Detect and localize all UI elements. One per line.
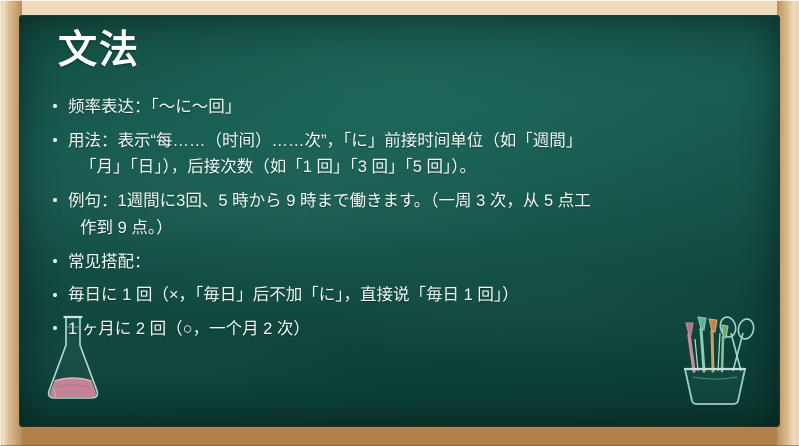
grammar-bullet-list: 频率表达：「～に～回」 用法：表示“每……（时间）……次”，「に」前接时间单位（… [52,94,739,350]
bullet-line: 毎日に 1 回（×，「毎日」后不加「に」，直接说「毎日 1 回」） [68,282,739,309]
chalkboard-surface: 文法 频率表达：「～に～回」 用法：表示“每……（时间）……次”，「に」前接时间… [20,16,779,426]
bullet-dot-icon [53,259,57,263]
bullet-dot-icon [53,104,57,108]
bullet-line-continued: 作到 9 点。） [68,215,739,242]
bullet-dot-icon [53,293,57,297]
page-title: 文法 [58,30,140,73]
list-item-collocation-right: 1 ヶ月に 2 回（○，一个月 2 次） [52,316,739,343]
wood-frame-left-rail [0,0,22,446]
list-item-common-collocations: 常见搭配： [52,249,739,276]
list-item-frequency-expression: 频率表达：「～に～回」 [52,94,739,121]
bullet-dot-icon [53,198,57,202]
bullet-line: 频率表达：「～に～回」 [68,94,739,121]
list-item-usage: 用法：表示“每……（时间）……次”，「に」前接时间单位（如「週間」 「月」「日」… [52,128,739,181]
bullet-dot-icon [53,326,57,330]
chalkboard-slide: 文法 频率表达：「～に～回」 用法：表示“每……（时间）……次”，「に」前接时间… [0,0,799,446]
bullet-dot-icon [53,138,57,142]
bullet-line: 1 ヶ月に 2 回（○，一个月 2 次） [68,316,739,343]
wood-frame-right-rail [777,0,799,446]
bullet-line: 用法：表示“每……（时间）……次”，「に」前接时间单位（如「週間」 [68,128,739,155]
list-item-example-sentence: 例句：1週間に3回、5 時から 9 時まで働きます。（一周 3 次，从 5 点工… [52,188,739,241]
bullet-line-continued: 「月」「日」），后接次数（如「1 回」「3 回」「5 回」）。 [68,154,739,181]
bullet-line: 例句：1週間に3回、5 時から 9 時まで働きます。（一周 3 次，从 5 点工 [68,188,739,215]
bullet-line: 常见搭配： [68,249,739,276]
list-item-collocation-wrong: 毎日に 1 回（×，「毎日」后不加「に」，直接说「毎日 1 回」） [52,282,739,309]
